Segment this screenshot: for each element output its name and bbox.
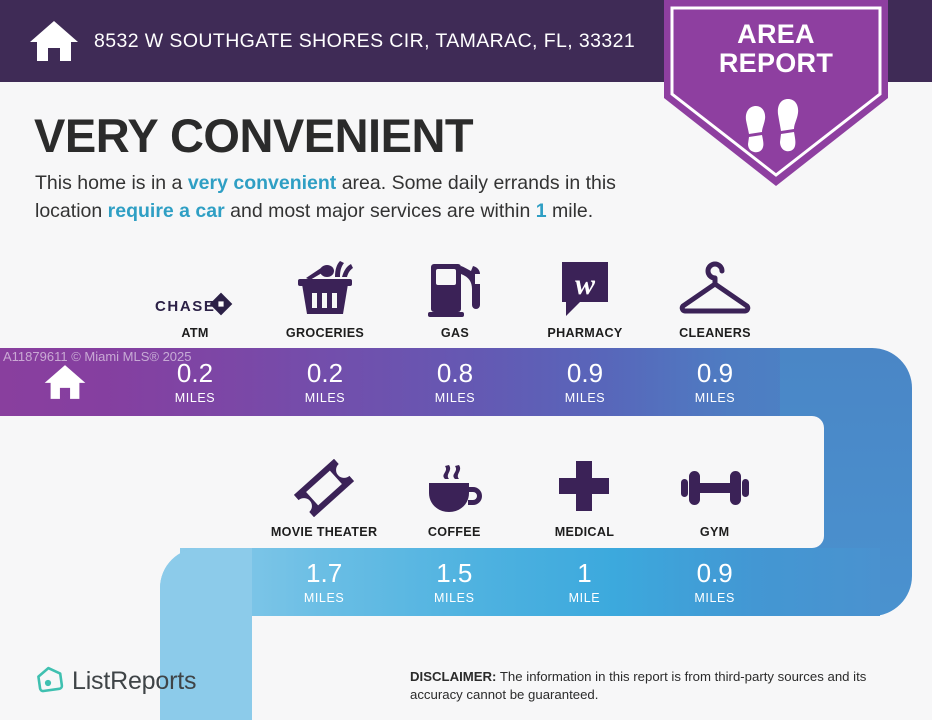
clothes-hanger-icon bbox=[675, 256, 755, 318]
summary-text: This home is in a very convenient area. … bbox=[35, 170, 660, 225]
property-address: 8532 W SOUTHGATE SHORES CIR, TAMARAC, FL… bbox=[94, 30, 635, 53]
area-report-badge: AREA REPORT bbox=[664, 0, 888, 186]
summary-highlight-1: very convenient bbox=[188, 172, 336, 194]
distance-value: 0.2 bbox=[307, 360, 343, 386]
distance-values-row-1: 0.2 MILES 0.2 MILES 0.8 MILES 0.9 MILES … bbox=[130, 348, 780, 416]
page-title: VERY CONVENIENT bbox=[34, 108, 473, 163]
amenity-atm: CHASE ATM bbox=[130, 248, 260, 340]
summary-part-4: mile. bbox=[547, 200, 594, 222]
distance-values-row-2: 1.7 MILES 1.5 MILES 1 MILE 0.9 MILES bbox=[259, 548, 780, 616]
distance-value: 0.9 bbox=[697, 360, 733, 386]
distance-gym: 0.9 MILES bbox=[650, 548, 780, 616]
gas-pump-icon bbox=[427, 256, 483, 318]
house-icon bbox=[28, 15, 80, 67]
distance-medical: 1 MILE bbox=[519, 548, 649, 616]
amenity-gas: GAS bbox=[390, 248, 520, 340]
listreports-logo[interactable]: ListReports bbox=[36, 666, 196, 696]
summary-highlight-2: require a car bbox=[108, 200, 225, 222]
amenity-label: MOVIE THEATER bbox=[271, 525, 378, 539]
amenity-gym: GYM bbox=[650, 447, 780, 539]
distance-unit: MILES bbox=[694, 591, 735, 605]
coffee-cup-icon bbox=[423, 455, 485, 517]
distance-unit: MILES bbox=[435, 391, 476, 405]
svg-text:CHASE: CHASE bbox=[155, 298, 216, 315]
amenity-icons-row-2: MOVIE THEATER COFFEE MEDICAL bbox=[259, 447, 780, 539]
distance-cleaners: 0.9 MILES bbox=[650, 348, 780, 416]
distance-coffee: 1.5 MILES bbox=[389, 548, 519, 616]
distance-unit: MILES bbox=[175, 391, 216, 405]
amenity-movie-theater: MOVIE THEATER bbox=[259, 447, 389, 539]
summary-part-1: This home is in a bbox=[35, 172, 188, 194]
summary-part-3: and most major services are within bbox=[225, 200, 536, 222]
area-report-page: 8532 W SOUTHGATE SHORES CIR, TAMARAC, FL… bbox=[0, 0, 932, 720]
listreports-tag-icon bbox=[36, 666, 64, 696]
movie-ticket-icon bbox=[293, 455, 355, 517]
amenity-label: GAS bbox=[441, 326, 469, 340]
amenity-icons-row-1: CHASE ATM bbox=[130, 248, 780, 340]
distance-value: 0.8 bbox=[437, 360, 473, 386]
amenity-coffee: COFFEE bbox=[389, 447, 519, 539]
badge-line-2: REPORT bbox=[664, 49, 888, 78]
amenity-label: GROCERIES bbox=[286, 326, 364, 340]
distance-value: 1 bbox=[577, 560, 591, 586]
disclaimer-label: DISCLAIMER: bbox=[410, 669, 496, 684]
distance-gas: 0.8 MILES bbox=[390, 348, 520, 416]
summary-highlight-3: 1 bbox=[536, 200, 547, 222]
amenity-medical: MEDICAL bbox=[519, 447, 649, 539]
amenity-label: GYM bbox=[700, 525, 730, 539]
distance-unit: MILES bbox=[305, 391, 346, 405]
disclaimer: DISCLAIMER: The information in this repo… bbox=[410, 668, 898, 704]
distance-groceries: 0.2 MILES bbox=[260, 348, 390, 416]
medical-cross-icon bbox=[555, 455, 613, 517]
amenity-label: CLEANERS bbox=[679, 326, 751, 340]
walgreens-w-icon: w bbox=[558, 256, 612, 318]
grocery-basket-icon bbox=[294, 256, 356, 318]
distance-value: 1.5 bbox=[436, 560, 472, 586]
badge-line-1: AREA bbox=[664, 20, 888, 49]
distance-value: 1.7 bbox=[306, 560, 342, 586]
distance-unit: MILES bbox=[695, 391, 736, 405]
distance-unit: MILES bbox=[434, 591, 475, 605]
mls-watermark: A11879611 © Miami MLS® 2025 bbox=[3, 349, 192, 364]
distance-unit: MILES bbox=[565, 391, 606, 405]
amenity-groceries: GROCERIES bbox=[260, 248, 390, 340]
distance-movie-theater: 1.7 MILES bbox=[259, 548, 389, 616]
dumbbell-icon bbox=[679, 455, 751, 517]
chase-bank-icon: CHASE bbox=[153, 256, 237, 318]
amenity-cleaners: CLEANERS bbox=[650, 248, 780, 340]
distance-unit: MILE bbox=[569, 591, 601, 605]
distance-pharmacy: 0.9 MILES bbox=[520, 348, 650, 416]
distance-value: 0.9 bbox=[697, 560, 733, 586]
amenity-label: COFFEE bbox=[428, 525, 481, 539]
amenity-label: PHARMACY bbox=[547, 326, 622, 340]
amenity-label: ATM bbox=[181, 326, 208, 340]
badge-label: AREA REPORT bbox=[664, 20, 888, 77]
amenity-pharmacy: w PHARMACY bbox=[520, 248, 650, 340]
distance-value: 0.9 bbox=[567, 360, 603, 386]
distance-unit: MILES bbox=[304, 591, 345, 605]
listreports-wordmark: ListReports bbox=[72, 667, 196, 696]
home-marker-icon bbox=[43, 360, 87, 404]
amenity-label: MEDICAL bbox=[555, 525, 614, 539]
svg-text:w: w bbox=[575, 268, 596, 301]
